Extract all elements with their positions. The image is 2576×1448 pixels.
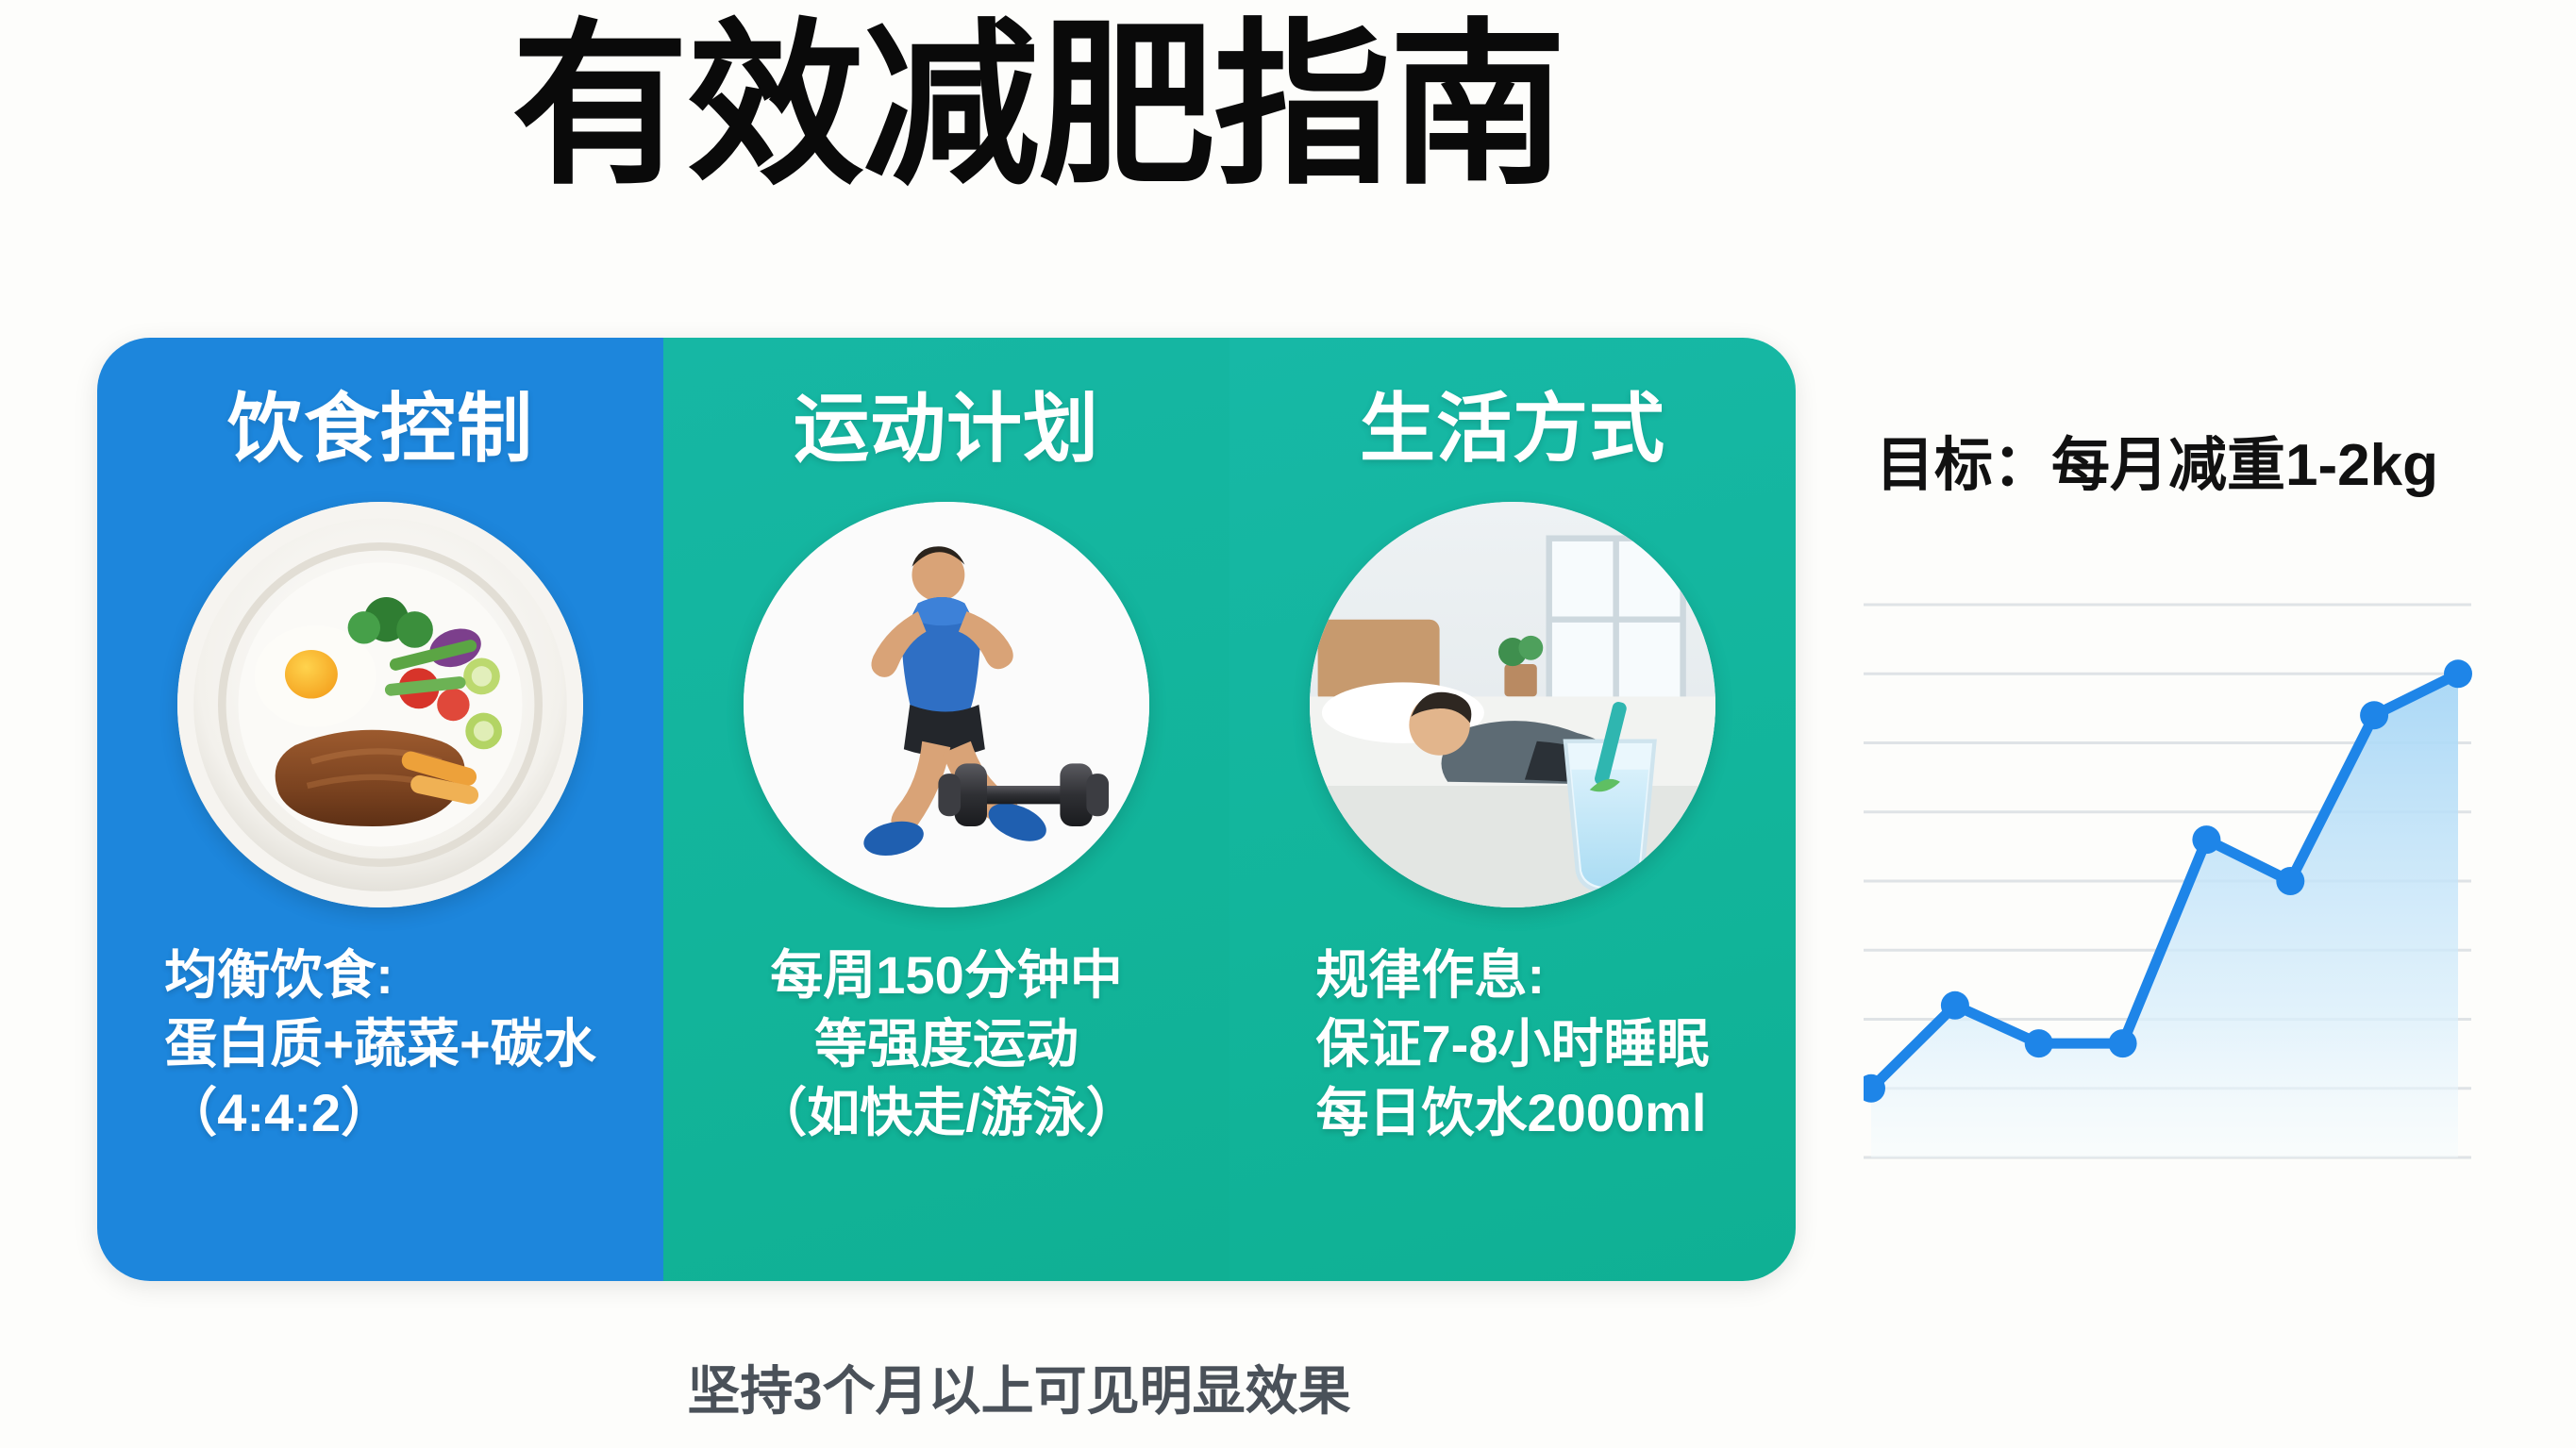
card-diet-control[interactable]: 饮食控制 [97, 338, 663, 1281]
infographic-root: 有效减肥指南 饮食控制 [0, 0, 2576, 1448]
weight-loss-line-chart [1864, 580, 2498, 1203]
card-title: 饮食控制 [227, 389, 533, 470]
card-description-line: 规律作息: [1316, 941, 1710, 1010]
card-description-line: 均衡饮食: [164, 941, 595, 1010]
card-description-line: 每日饮水2000ml [1316, 1079, 1710, 1148]
chart-title: 目标：每月减重1-2kg [1876, 417, 2438, 502]
card-title: 生活方式 [1360, 389, 1665, 470]
chart-data-point [2192, 825, 2220, 854]
sleeping-woman-water-glass-photo [1310, 502, 1715, 907]
cards-container: 饮食控制 [97, 338, 1796, 1281]
card-lifestyle[interactable]: 生活方式 [1229, 338, 1796, 1281]
running-man-dumbbell-photo [744, 502, 1149, 907]
card-description-line: （4:4:2） [164, 1079, 595, 1148]
goal-chart-panel: 目标：每月减重1-2kg [1849, 396, 2510, 1273]
card-description: 规律作息: 保证7-8小时睡眠 每日饮水2000ml [1316, 941, 1710, 1147]
card-description: 均衡饮食: 蛋白质+蔬菜+碳水 （4:4:2） [164, 941, 595, 1147]
chart-data-point [2025, 1029, 2053, 1057]
balanced-meal-plate-photo [177, 502, 583, 907]
card-title: 运动计划 [794, 389, 1099, 470]
card-description-line: 保证7-8小时睡眠 [1316, 1010, 1710, 1079]
card-description-line: 等强度运动 [754, 1010, 1139, 1079]
card-exercise-plan[interactable]: 运动计划 [663, 338, 1229, 1281]
card-description-line: （如快走/游泳） [754, 1079, 1139, 1148]
chart-data-point [2360, 701, 2388, 729]
card-description: 每周150分钟中 等强度运动 （如快走/游泳） [754, 941, 1139, 1147]
chart-data-point [2109, 1029, 2137, 1057]
card-description-line: 蛋白质+蔬菜+碳水 [164, 1010, 595, 1079]
chart-data-point [2276, 867, 2304, 895]
card-description-line: 每周150分钟中 [754, 941, 1139, 1010]
page-title: 有效减肥指南 [0, 17, 2076, 194]
footer-caption: 坚持3个月以上可见明显效果 [0, 1349, 2038, 1425]
chart-area-fill [1871, 674, 2458, 1157]
chart-data-point [1941, 991, 1969, 1020]
chart-data-point [2444, 659, 2472, 688]
